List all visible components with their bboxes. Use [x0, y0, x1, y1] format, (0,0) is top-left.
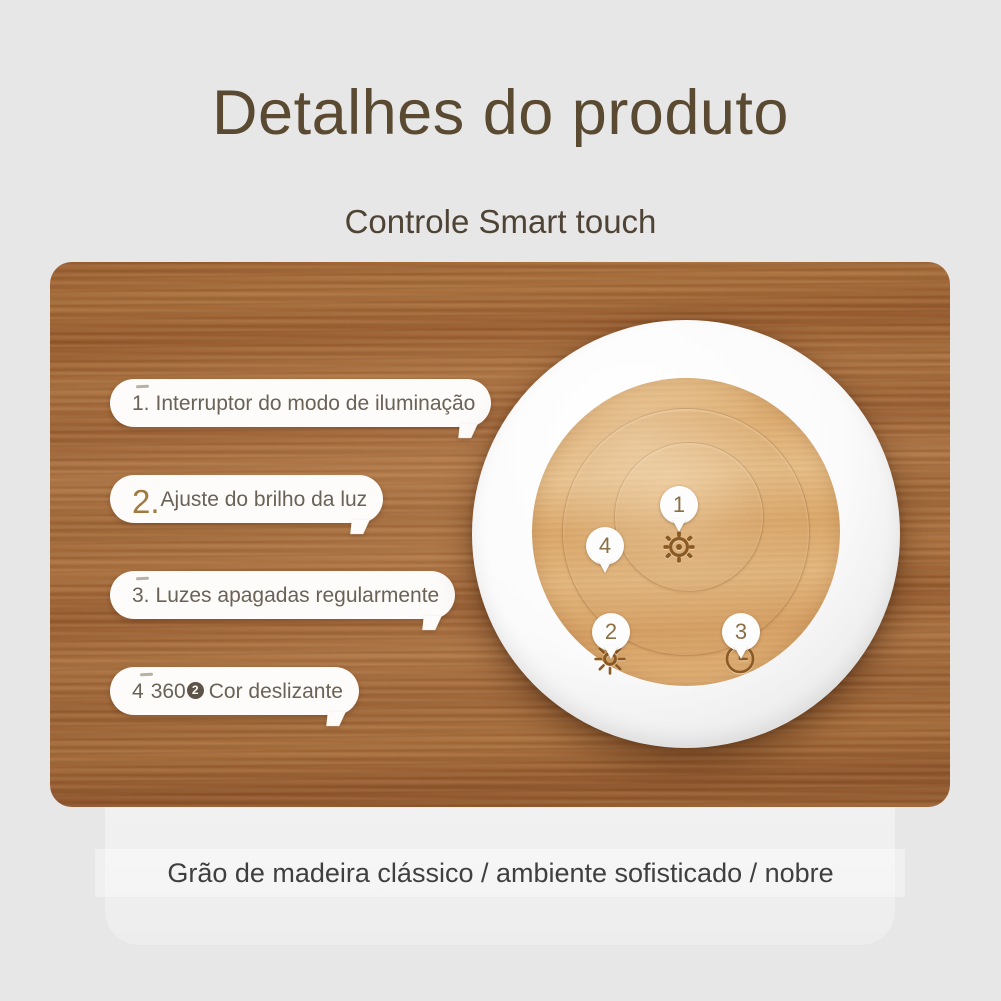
- callout-bubble-1: 1. Interruptor do modo de iluminação: [110, 379, 491, 427]
- page-subtitle: Controle Smart touch: [0, 205, 1001, 238]
- marker-pin-3[interactable]: 3: [722, 613, 760, 651]
- marker-pin-tip: [672, 519, 686, 532]
- page-title: Detalhes do produto: [0, 82, 1001, 145]
- product-detail-infographic: Detalhes do produto Controle Smart touch…: [0, 0, 1001, 1001]
- callout-2-number: 2.: [132, 485, 160, 518]
- callout-1-label: Interruptor do modo de iluminação: [156, 393, 476, 414]
- callout-1-number: 1.: [132, 393, 150, 414]
- callout-bubble-3: 3. Luzes apagadas regularmente: [110, 571, 455, 619]
- bubble-tick-icon: [140, 673, 153, 677]
- callout-3-label: Luzes apagadas regularmente: [156, 585, 440, 606]
- callout-2-label: Ajuste do brilho da luz: [161, 489, 368, 510]
- callout-3-number: 3.: [132, 585, 150, 606]
- marker-pin-2[interactable]: 2: [592, 613, 630, 651]
- callout-bubble-4: 4 360 2 Cor deslizante: [110, 667, 359, 715]
- marker-pin-tip: [598, 560, 612, 573]
- marker-pin-tip: [604, 646, 618, 659]
- callout-4-prefix: 360: [151, 681, 186, 702]
- gear-icon[interactable]: [661, 529, 697, 565]
- marker-pin-1[interactable]: 1: [660, 486, 698, 524]
- marker-pin-4[interactable]: 4: [586, 527, 624, 565]
- callout-4-suffix: Cor deslizante: [209, 681, 343, 702]
- bubble-tick-icon: [136, 385, 149, 389]
- bubble-tick-icon: [136, 577, 149, 581]
- marker-pin-tip: [734, 646, 748, 659]
- callout-bubble-2: 2. Ajuste do brilho da luz: [110, 475, 383, 523]
- bottom-caption: Grão de madeira clássico / ambiente sofi…: [0, 860, 1001, 887]
- callout-4-badge-icon: 2: [187, 682, 204, 699]
- callout-4-number: 4: [132, 681, 144, 702]
